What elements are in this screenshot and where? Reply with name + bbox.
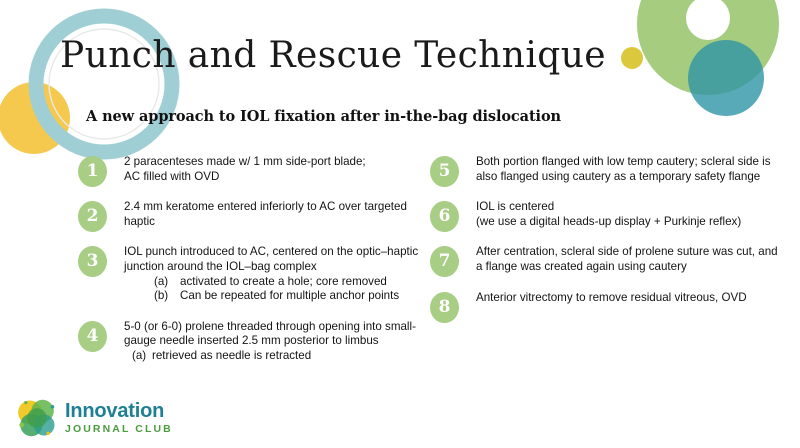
step-text: Both portion flanged with low temp caute… (476, 155, 790, 184)
step-item: 45-0 (or 6-0) prolene threaded through o… (78, 320, 438, 364)
steps-column-left: 12 paracenteses made w/ 1 mm side-port b… (78, 155, 438, 380)
steps-content: 12 paracenteses made w/ 1 mm side-port b… (0, 155, 800, 400)
step-number-badge: 6 (430, 201, 459, 232)
innovation-journal-club-logo[interactable]: Innovation JOURNAL CLUB (16, 396, 173, 440)
logo-primary-text: Innovation (65, 401, 173, 421)
step-sub-item: (b)Can be repeated for multiple anchor p… (154, 289, 438, 304)
step-sub-text: activated to create a hole; core removed (180, 275, 387, 290)
step-number-badge: 8 (430, 292, 459, 323)
slide-canvas: Punch and Rescue Technique A new approac… (0, 0, 800, 448)
step-sublist: (a)activated to create a hole; core remo… (124, 275, 438, 304)
step-sub-marker: (a) (132, 349, 152, 364)
step-number-badge: 1 (78, 156, 107, 187)
step-text: IOL is centered (we use a digital heads-… (476, 200, 790, 229)
step-number-badge: 5 (430, 156, 459, 187)
step-number-badge: 7 (430, 246, 459, 277)
step-text: Anterior vitrectomy to remove residual v… (476, 291, 790, 306)
title-block: Punch and Rescue Technique A new approac… (0, 34, 800, 126)
step-number-badge: 3 (78, 246, 107, 277)
step-item: 22.4 mm keratome entered inferiorly to A… (78, 200, 438, 229)
step-sub-marker: (a) (154, 275, 180, 290)
step-number-badge: 4 (78, 321, 107, 352)
steps-column-right: 5Both portion flanged with low temp caut… (430, 155, 790, 321)
step-text: 2.4 mm keratome entered inferiorly to AC… (124, 200, 438, 229)
step-item: 12 paracenteses made w/ 1 mm side-port b… (78, 155, 438, 184)
step-text: After centration, scleral side of prolen… (476, 245, 790, 274)
step-item: 8Anterior vitrectomy to remove residual … (430, 291, 790, 306)
step-sublist: (a)retrieved as needle is retracted (124, 349, 438, 364)
step-item: 5Both portion flanged with low temp caut… (430, 155, 790, 184)
step-item: 6IOL is centered (we use a digital heads… (430, 200, 790, 229)
step-sub-item: (a)retrieved as needle is retracted (132, 349, 438, 364)
step-sub-text: retrieved as needle is retracted (152, 349, 311, 364)
step-text: 2 paracenteses made w/ 1 mm side-port bl… (124, 155, 438, 184)
logo-mark-icon (16, 397, 58, 439)
step-sub-text: Can be repeated for multiple anchor poin… (180, 289, 399, 304)
step-text: IOL punch introduced to AC, centered on … (124, 245, 438, 274)
logo-wordmark: Innovation JOURNAL CLUB (65, 401, 173, 435)
step-text: 5-0 (or 6-0) prolene threaded through op… (124, 320, 438, 349)
step-sub-item: (a)activated to create a hole; core remo… (154, 275, 438, 290)
page-subtitle: A new approach to IOL fixation after in-… (0, 78, 800, 126)
step-number-badge: 2 (78, 201, 107, 232)
step-sub-marker: (b) (154, 289, 180, 304)
page-title: Punch and Rescue Technique (0, 34, 800, 78)
logo-secondary-text: JOURNAL CLUB (65, 424, 173, 435)
step-item: 3IOL punch introduced to AC, centered on… (78, 245, 438, 303)
step-item: 7After centration, scleral side of prole… (430, 245, 790, 274)
